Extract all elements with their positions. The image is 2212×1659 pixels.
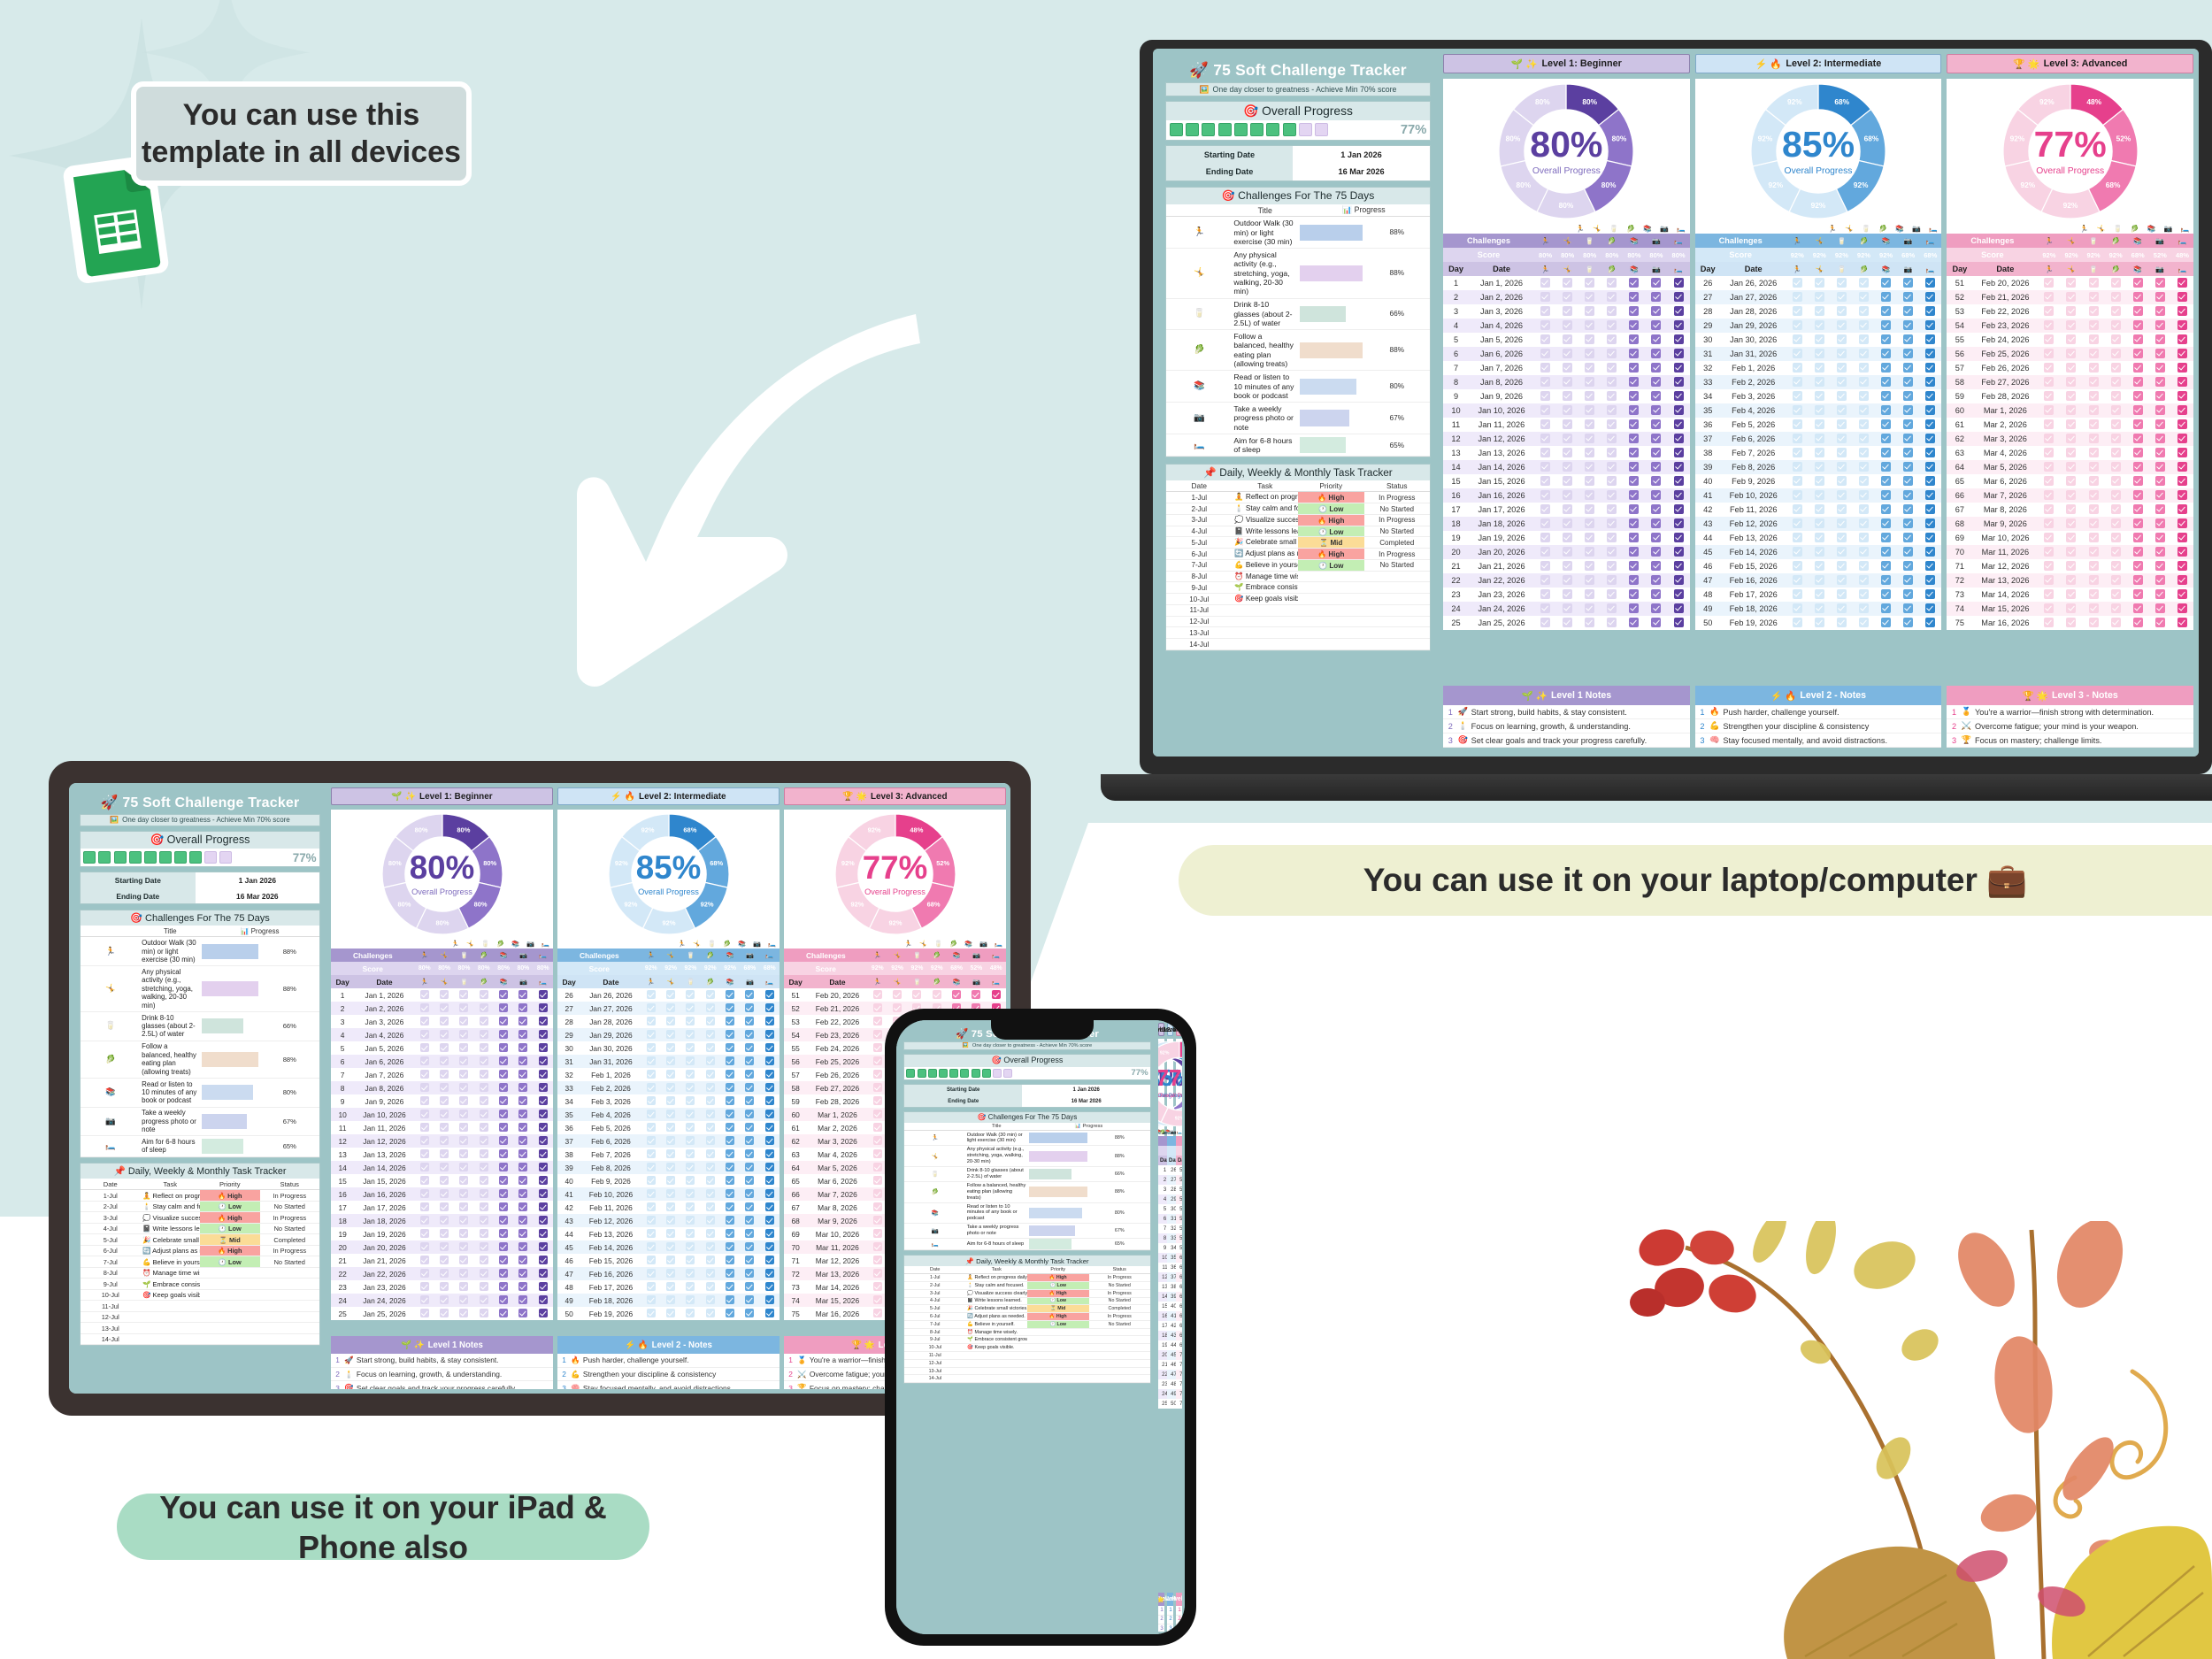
checkbox-cell[interactable] (2060, 446, 2082, 460)
checkbox-icon[interactable] (480, 1003, 488, 1012)
checkbox-icon[interactable] (420, 1189, 429, 1198)
table-row[interactable]: 11 Jan 11, 2026 (331, 1121, 553, 1134)
checkbox-icon[interactable] (1837, 306, 1847, 316)
checkbox-icon[interactable] (2066, 518, 2076, 528)
checkbox-icon[interactable] (2155, 391, 2165, 401)
level-table-level1[interactable]: Challenges🏃🤸🥛🥬📚📷🛏️ Score80%80%80%80%80%8… (331, 949, 553, 1320)
checkbox-icon[interactable] (1607, 377, 1617, 387)
checkbox-cell[interactable] (1853, 319, 1875, 333)
checkbox-icon[interactable] (647, 1030, 656, 1039)
checkbox-icon[interactable] (666, 1030, 675, 1039)
checkbox-cell[interactable] (434, 1055, 454, 1068)
checkbox-cell[interactable] (2083, 616, 2105, 630)
checkbox-icon[interactable] (440, 1256, 449, 1264)
checkbox-cell[interactable] (1534, 545, 1556, 559)
checkbox-cell[interactable] (680, 1028, 700, 1041)
checkbox-icon[interactable] (1925, 575, 1935, 585)
checkbox-cell[interactable] (1667, 503, 1689, 517)
checkbox-icon[interactable] (1674, 575, 1684, 585)
checkbox-icon[interactable] (2089, 419, 2099, 429)
checkbox-cell[interactable] (720, 1055, 740, 1068)
checkbox-icon[interactable] (459, 1282, 468, 1291)
checkbox-cell[interactable] (1809, 290, 1831, 304)
checkbox-icon[interactable] (2133, 419, 2143, 429)
checkbox-icon[interactable] (2066, 349, 2076, 358)
checkbox-icon[interactable] (1629, 349, 1639, 358)
table-row[interactable]: 27 Jan 27, 2026 (1695, 290, 1942, 304)
checkbox-cell[interactable] (1875, 531, 1897, 545)
checkbox-cell[interactable] (1875, 588, 1897, 602)
checkbox-icon[interactable] (2044, 377, 2054, 387)
checkbox-cell[interactable] (1919, 403, 1941, 418)
starting-date-row[interactable]: Starting Date 1 Jan 2026 (904, 1085, 1150, 1096)
checkbox-cell[interactable] (1875, 488, 1897, 503)
checkbox-icon[interactable] (499, 1030, 508, 1039)
checkbox-icon[interactable] (539, 1030, 548, 1039)
checkbox-icon[interactable] (873, 1176, 882, 1185)
checkbox-cell[interactable] (2127, 531, 2149, 545)
checkbox-cell[interactable] (740, 1121, 759, 1134)
checkbox-cell[interactable] (1875, 602, 1897, 616)
checkbox-cell[interactable] (1578, 319, 1601, 333)
checkbox-icon[interactable] (2155, 476, 2165, 486)
checkbox-icon[interactable] (666, 1295, 675, 1304)
checkbox-icon[interactable] (1629, 292, 1639, 302)
checkbox-cell[interactable] (641, 1161, 661, 1174)
checkbox-icon[interactable] (1815, 349, 1824, 358)
checkbox-cell[interactable] (740, 1148, 759, 1161)
checkbox-icon[interactable] (765, 1110, 774, 1118)
checkbox-icon[interactable] (1837, 504, 1847, 514)
checkbox-icon[interactable] (2066, 320, 2076, 330)
table-row[interactable]: 58 Feb 27, 2026 (1947, 375, 2193, 389)
checkbox-cell[interactable] (1831, 474, 1853, 488)
checkbox-icon[interactable] (1903, 306, 1913, 316)
checkbox-icon[interactable] (765, 1096, 774, 1105)
checkbox-cell[interactable] (2105, 602, 2127, 616)
checkbox-icon[interactable] (686, 1295, 695, 1304)
checkbox-cell[interactable] (720, 1254, 740, 1267)
checkbox-icon[interactable] (2066, 434, 2076, 443)
checkbox-icon[interactable] (1651, 391, 1661, 401)
checkbox-icon[interactable] (1793, 320, 1802, 330)
checkbox-icon[interactable] (480, 1123, 488, 1132)
table-row[interactable]: 1 Jan 1, 2026 (331, 988, 553, 1002)
checkbox-icon[interactable] (2177, 618, 2187, 627)
table-row[interactable]: 34 Feb 3, 2026 (1695, 389, 1942, 403)
checkbox-icon[interactable] (666, 990, 675, 999)
checkbox-icon[interactable] (1540, 320, 1550, 330)
checkbox-cell[interactable] (494, 1214, 513, 1227)
checkbox-icon[interactable] (1793, 533, 1802, 542)
checkbox-cell[interactable] (534, 1280, 553, 1294)
checkbox-cell[interactable] (1534, 488, 1556, 503)
checkbox-cell[interactable] (1809, 517, 1831, 531)
checkbox-icon[interactable] (745, 1043, 754, 1052)
checkbox-cell[interactable] (1809, 488, 1831, 503)
checkbox-icon[interactable] (1793, 603, 1802, 613)
checkbox-cell[interactable] (1601, 276, 1623, 290)
checkbox-cell[interactable] (2149, 517, 2171, 531)
checkbox-icon[interactable] (1925, 306, 1935, 316)
checkbox-cell[interactable] (415, 1068, 434, 1081)
checkbox-cell[interactable] (661, 1161, 680, 1174)
checkbox-icon[interactable] (873, 1096, 882, 1105)
note-item[interactable]: 1 🚀 Start strong, build habits, & stay c… (331, 1354, 553, 1368)
checkbox-icon[interactable] (459, 1017, 468, 1025)
checkbox-icon[interactable] (1540, 533, 1550, 542)
checkbox-cell[interactable] (415, 1015, 434, 1028)
checkbox-cell[interactable] (534, 1094, 553, 1108)
checkbox-cell[interactable] (474, 1214, 494, 1227)
checkbox-cell[interactable] (1601, 573, 1623, 588)
checkbox-cell[interactable] (454, 1121, 473, 1134)
checkbox-icon[interactable] (686, 1309, 695, 1317)
checkbox-cell[interactable] (513, 1041, 533, 1055)
checkbox-icon[interactable] (1925, 391, 1935, 401)
checkbox-cell[interactable] (1534, 460, 1556, 474)
checkbox-cell[interactable] (1645, 446, 1667, 460)
checkbox-icon[interactable] (2177, 292, 2187, 302)
checkbox-icon[interactable] (873, 1043, 882, 1052)
checkbox-icon[interactable] (1793, 448, 1802, 457)
checkbox-cell[interactable] (1556, 488, 1578, 503)
checkbox-cell[interactable] (1875, 304, 1897, 319)
table-row[interactable]: 47 Feb 16, 2026 (557, 1267, 780, 1280)
checkbox-icon[interactable] (1585, 306, 1594, 316)
checkbox-icon[interactable] (539, 1242, 548, 1251)
checkbox-cell[interactable] (1556, 319, 1578, 333)
checkbox-cell[interactable] (680, 1161, 700, 1174)
checkbox-icon[interactable] (686, 1070, 695, 1079)
checkbox-cell[interactable] (1623, 531, 1645, 545)
checkbox-icon[interactable] (1881, 448, 1891, 457)
challenge-row[interactable]: 🤸 Any physical activity (e.g., stretchin… (1166, 249, 1430, 298)
checkbox-cell[interactable] (701, 1068, 720, 1081)
checkbox-cell[interactable] (2105, 616, 2127, 630)
checkbox-icon[interactable] (765, 1083, 774, 1092)
checkbox-cell[interactable] (1667, 446, 1689, 460)
checkbox-cell[interactable] (2105, 347, 2127, 361)
checkbox-icon[interactable] (1629, 490, 1639, 500)
checkbox-icon[interactable] (1607, 575, 1617, 585)
checkbox-icon[interactable] (1925, 405, 1935, 415)
checkbox-icon[interactable] (420, 1070, 429, 1079)
checkbox-cell[interactable] (2083, 304, 2105, 319)
checkbox-icon[interactable] (1607, 391, 1617, 401)
checkbox-icon[interactable] (1837, 278, 1847, 288)
checkbox-icon[interactable] (1903, 547, 1913, 557)
checkbox-cell[interactable] (2149, 602, 2171, 616)
level-table-level3[interactable]: Challenges🏃🤸🥛🥬📚📷🛏️ Score92%92%92%92%68%5… (1947, 234, 2193, 630)
table-row[interactable]: 4 Jan 4, 2026 (331, 1028, 553, 1041)
checkbox-cell[interactable] (2105, 488, 2127, 503)
checkbox-icon[interactable] (647, 1176, 656, 1185)
checkbox-icon[interactable] (1859, 278, 1869, 288)
checkbox-icon[interactable] (706, 1269, 715, 1278)
checkbox-icon[interactable] (539, 1056, 548, 1065)
checkbox-icon[interactable] (2089, 349, 2099, 358)
checkbox-cell[interactable] (740, 1174, 759, 1187)
checkbox-icon[interactable] (2089, 533, 2099, 542)
checkbox-icon[interactable] (1859, 448, 1869, 457)
checkbox-icon[interactable] (1925, 518, 1935, 528)
checkbox-icon[interactable] (1793, 278, 1802, 288)
checkbox-cell[interactable] (2149, 347, 2171, 361)
checkbox-cell[interactable] (1623, 361, 1645, 375)
checkbox-cell[interactable] (434, 1121, 454, 1134)
checkbox-icon[interactable] (647, 1043, 656, 1052)
checkbox-cell[interactable] (1534, 616, 1556, 630)
checkbox-icon[interactable] (499, 1123, 508, 1132)
checkbox-icon[interactable] (2155, 462, 2165, 472)
checkbox-icon[interactable] (1674, 419, 1684, 429)
checkbox-cell[interactable] (1578, 375, 1601, 389)
checkbox-icon[interactable] (1793, 547, 1802, 557)
checkbox-icon[interactable] (686, 1017, 695, 1025)
checkbox-cell[interactable] (720, 1108, 740, 1121)
checkbox-cell[interactable] (2060, 276, 2082, 290)
checkbox-icon[interactable] (1629, 419, 1639, 429)
checkbox-cell[interactable] (1645, 403, 1667, 418)
table-row[interactable]: 45 Feb 14, 2026 (1695, 545, 1942, 559)
checkbox-icon[interactable] (420, 1056, 429, 1065)
checkbox-cell[interactable] (1919, 319, 1941, 333)
checkbox-cell[interactable] (1578, 276, 1601, 290)
checkbox-cell[interactable] (1667, 573, 1689, 588)
checkbox-cell[interactable] (474, 1187, 494, 1201)
checkbox-icon[interactable] (1881, 320, 1891, 330)
checkbox-cell[interactable] (1919, 290, 1941, 304)
checkbox-cell[interactable] (434, 1294, 454, 1307)
checkbox-icon[interactable] (1815, 589, 1824, 599)
checkbox-icon[interactable] (1540, 405, 1550, 415)
checkbox-cell[interactable] (534, 988, 553, 1002)
checkbox-icon[interactable] (1881, 618, 1891, 627)
checkbox-cell[interactable] (494, 1267, 513, 1280)
checkbox-icon[interactable] (480, 1269, 488, 1278)
checkbox-icon[interactable] (480, 1189, 488, 1198)
checkbox-icon[interactable] (1585, 278, 1594, 288)
checkbox-cell[interactable] (1667, 559, 1689, 573)
checkbox-cell[interactable] (740, 1280, 759, 1294)
checkbox-cell[interactable] (2038, 517, 2060, 531)
checkbox-icon[interactable] (1607, 561, 1617, 571)
checkbox-icon[interactable] (499, 1163, 508, 1171)
checkbox-cell[interactable] (494, 1121, 513, 1134)
checkbox-icon[interactable] (873, 1269, 882, 1278)
checkbox-icon[interactable] (1815, 547, 1824, 557)
checkbox-icon[interactable] (1925, 320, 1935, 330)
table-row[interactable]: 11 Jan 11, 2026 (1443, 418, 1690, 432)
checkbox-icon[interactable] (1585, 320, 1594, 330)
checkbox-cell[interactable] (1556, 432, 1578, 446)
checkbox-icon[interactable] (2044, 334, 2054, 344)
checkbox-icon[interactable] (2089, 476, 2099, 486)
checkbox-cell[interactable] (2083, 474, 2105, 488)
checkbox-cell[interactable] (1645, 559, 1667, 573)
checkbox-icon[interactable] (726, 1096, 734, 1105)
checkbox-icon[interactable] (1925, 589, 1935, 599)
checkbox-icon[interactable] (1674, 504, 1684, 514)
checkbox-icon[interactable] (2155, 561, 2165, 571)
checkbox-cell[interactable] (2171, 517, 2193, 531)
checkbox-icon[interactable] (1903, 603, 1913, 613)
note-item[interactable]: 3 🎯 Set clear goals and track your progr… (1158, 1624, 1164, 1632)
checkbox-icon[interactable] (1815, 448, 1824, 457)
checkbox-icon[interactable] (2177, 419, 2187, 429)
task-row[interactable]: 11-Jul (1166, 604, 1430, 616)
checkbox-cell[interactable] (1645, 389, 1667, 403)
task-row[interactable]: 13-Jul (904, 1367, 1150, 1375)
checkbox-icon[interactable] (1815, 419, 1824, 429)
checkbox-cell[interactable] (1601, 616, 1623, 630)
checkbox-icon[interactable] (420, 1229, 429, 1238)
checkbox-cell[interactable] (534, 1240, 553, 1254)
table-row[interactable]: 57 Feb 26, 2026 (1947, 361, 2193, 375)
checkbox-icon[interactable] (745, 1030, 754, 1039)
checkbox-cell[interactable] (1809, 347, 1831, 361)
checkbox-cell[interactable] (2083, 290, 2105, 304)
checkbox-cell[interactable] (2083, 517, 2105, 531)
checkbox-icon[interactable] (1540, 292, 1550, 302)
table-row[interactable]: 2 Jan 2, 2026 (331, 1002, 553, 1015)
checkbox-cell[interactable] (513, 1294, 533, 1307)
checkbox-icon[interactable] (1629, 575, 1639, 585)
challenge-row[interactable]: 🥛 Drink 8-10 glasses (about 2-2.5L) of w… (81, 1011, 319, 1041)
checkbox-cell[interactable] (2171, 573, 2193, 588)
table-row[interactable]: 48 Feb 17, 2026 (557, 1280, 780, 1294)
checkbox-icon[interactable] (539, 1295, 548, 1304)
checkbox-cell[interactable] (740, 1187, 759, 1201)
checkbox-icon[interactable] (1815, 561, 1824, 571)
checkbox-cell[interactable] (641, 1041, 661, 1055)
checkbox-icon[interactable] (518, 1096, 527, 1105)
checkbox-cell[interactable] (680, 1148, 700, 1161)
checkbox-icon[interactable] (1859, 377, 1869, 387)
checkbox-cell[interactable] (1578, 389, 1601, 403)
task-row[interactable]: 2-Jul 🕯️ Stay calm and focused. 🕐 Low No… (1166, 503, 1430, 515)
checkbox-icon[interactable] (518, 1282, 527, 1291)
checkbox-cell[interactable] (2060, 545, 2082, 559)
checkbox-icon[interactable] (1563, 334, 1572, 344)
checkbox-icon[interactable] (666, 1056, 675, 1065)
checkbox-icon[interactable] (706, 1256, 715, 1264)
checkbox-cell[interactable] (680, 1307, 700, 1320)
checkbox-icon[interactable] (2155, 320, 2165, 330)
checkbox-cell[interactable] (494, 988, 513, 1002)
checkbox-cell[interactable] (1556, 616, 1578, 630)
checkbox-icon[interactable] (1540, 377, 1550, 387)
checkbox-icon[interactable] (726, 1176, 734, 1185)
note-item[interactable]: 1 🔥 Push harder, challenge yourself. (1167, 1606, 1173, 1616)
checkbox-icon[interactable] (1651, 334, 1661, 344)
checkbox-cell[interactable] (434, 988, 454, 1002)
checkbox-icon[interactable] (666, 1242, 675, 1251)
checkbox-icon[interactable] (666, 1216, 675, 1225)
checkbox-cell[interactable] (434, 1240, 454, 1254)
checkbox-cell[interactable] (740, 1002, 759, 1015)
checkbox-cell[interactable] (641, 1280, 661, 1294)
checkbox-cell[interactable] (641, 1267, 661, 1280)
checkbox-icon[interactable] (1815, 504, 1824, 514)
checkbox-icon[interactable] (2177, 561, 2187, 571)
checkbox-icon[interactable] (539, 1003, 548, 1012)
checkbox-cell[interactable] (2083, 588, 2105, 602)
checkbox-cell[interactable] (1645, 432, 1667, 446)
checkbox-icon[interactable] (459, 1096, 468, 1105)
checkbox-icon[interactable] (706, 1056, 715, 1065)
checkbox-icon[interactable] (2177, 518, 2187, 528)
checkbox-cell[interactable] (661, 1028, 680, 1041)
checkbox-icon[interactable] (1607, 490, 1617, 500)
checkbox-icon[interactable] (1815, 603, 1824, 613)
checkbox-cell[interactable] (513, 1187, 533, 1201)
checkbox-icon[interactable] (2133, 561, 2143, 571)
task-row[interactable]: 8-Jul ⏰ Manage time wisely. (1166, 571, 1430, 582)
checkbox-cell[interactable] (494, 1240, 513, 1254)
note-item[interactable]: 1 🚀 Start strong, build habits, & stay c… (1158, 1606, 1164, 1616)
table-row[interactable]: 73 Mar 14, 2026 (1947, 588, 2193, 602)
checkbox-icon[interactable] (1629, 320, 1639, 330)
table-row[interactable]: 48 Feb 17, 2026 (1695, 588, 1942, 602)
challenge-row[interactable]: 🛏️ Aim for 6-8 hours of sleep 65% (904, 1239, 1150, 1250)
checkbox-cell[interactable] (1623, 460, 1645, 474)
checkbox-cell[interactable] (1667, 531, 1689, 545)
checkbox-cell[interactable] (534, 1307, 553, 1320)
checkbox-icon[interactable] (2155, 434, 2165, 443)
checkbox-icon[interactable] (1629, 504, 1639, 514)
checkbox-cell[interactable] (1578, 460, 1601, 474)
checkbox-icon[interactable] (647, 1229, 656, 1238)
checkbox-icon[interactable] (1837, 391, 1847, 401)
checkbox-cell[interactable] (513, 1055, 533, 1068)
checkbox-cell[interactable] (1875, 375, 1897, 389)
checkbox-cell[interactable] (454, 1108, 473, 1121)
task-row[interactable]: 7-Jul 💪 Believe in yourself. 🕐 Low No St… (904, 1320, 1150, 1328)
checkbox-icon[interactable] (1903, 320, 1913, 330)
checkbox-icon[interactable] (666, 1043, 675, 1052)
checkbox-cell[interactable] (1831, 588, 1853, 602)
checkbox-cell[interactable] (1875, 432, 1897, 446)
checkbox-icon[interactable] (499, 1070, 508, 1079)
checkbox-cell[interactable] (2105, 418, 2127, 432)
checkbox-icon[interactable] (2044, 575, 2054, 585)
checkbox-cell[interactable] (2038, 588, 2060, 602)
checkbox-cell[interactable] (1875, 503, 1897, 517)
checkbox-icon[interactable] (1629, 533, 1639, 542)
checkbox-cell[interactable] (1897, 319, 1919, 333)
checkbox-icon[interactable] (2044, 391, 2054, 401)
task-row[interactable]: 12-Jul (1166, 616, 1430, 627)
checkbox-cell[interactable] (1875, 573, 1897, 588)
checkbox-cell[interactable] (434, 1201, 454, 1214)
checkbox-icon[interactable] (518, 1017, 527, 1025)
checkbox-icon[interactable] (1837, 405, 1847, 415)
checkbox-cell[interactable] (680, 1068, 700, 1081)
checkbox-icon[interactable] (2044, 533, 2054, 542)
table-row[interactable]: 66 Mar 7, 2026 (1947, 488, 2193, 503)
checkbox-icon[interactable] (2133, 618, 2143, 627)
checkbox-cell[interactable] (1601, 418, 1623, 432)
checkbox-cell[interactable] (534, 1254, 553, 1267)
checkbox-icon[interactable] (2066, 405, 2076, 415)
checkbox-icon[interactable] (2133, 292, 2143, 302)
checkbox-icon[interactable] (1651, 434, 1661, 443)
checkbox-icon[interactable] (2066, 448, 2076, 457)
checkbox-cell[interactable] (415, 1214, 434, 1227)
checkbox-cell[interactable] (513, 1307, 533, 1320)
